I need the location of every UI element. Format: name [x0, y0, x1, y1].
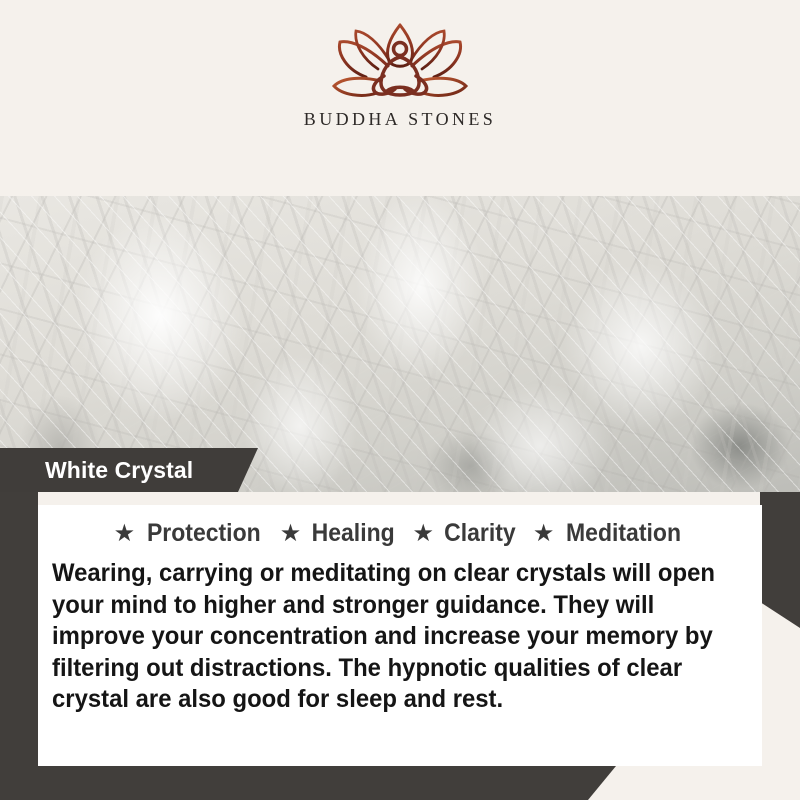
- benefit-item: ★Meditation: [533, 519, 687, 548]
- benefits-row: ★Protection★Healing★Clarity★Meditation: [38, 505, 762, 548]
- benefit-item: ★Healing: [280, 519, 399, 548]
- star-icon: ★: [413, 522, 435, 546]
- brand-name: BUDDHA STONES: [304, 109, 496, 130]
- content-card: ★Protection★Healing★Clarity★Meditation W…: [38, 505, 762, 766]
- crystal-cluster-image: [0, 196, 800, 492]
- header: BUDDHA STONES: [0, 0, 800, 196]
- benefit-label: Protection: [147, 519, 261, 548]
- star-icon: ★: [114, 522, 136, 546]
- star-icon: ★: [533, 522, 555, 546]
- description-text: Wearing, carrying or meditating on clear…: [52, 558, 717, 716]
- frame-band-bottom: [0, 766, 616, 800]
- stone-name-label: White Crystal: [0, 457, 193, 484]
- stone-photo: White Crystal: [0, 196, 800, 492]
- benefit-label: Healing: [312, 519, 395, 548]
- brand-logo: BUDDHA STONES: [304, 18, 496, 130]
- stone-name-badge: White Crystal: [0, 448, 258, 492]
- benefit-label: Clarity: [444, 519, 516, 548]
- benefit-item: ★Protection: [114, 519, 266, 548]
- star-icon: ★: [280, 522, 302, 546]
- lotus-meditation-icon: [314, 18, 486, 104]
- benefit-item: ★Clarity: [413, 519, 519, 548]
- benefit-label: Meditation: [566, 519, 681, 548]
